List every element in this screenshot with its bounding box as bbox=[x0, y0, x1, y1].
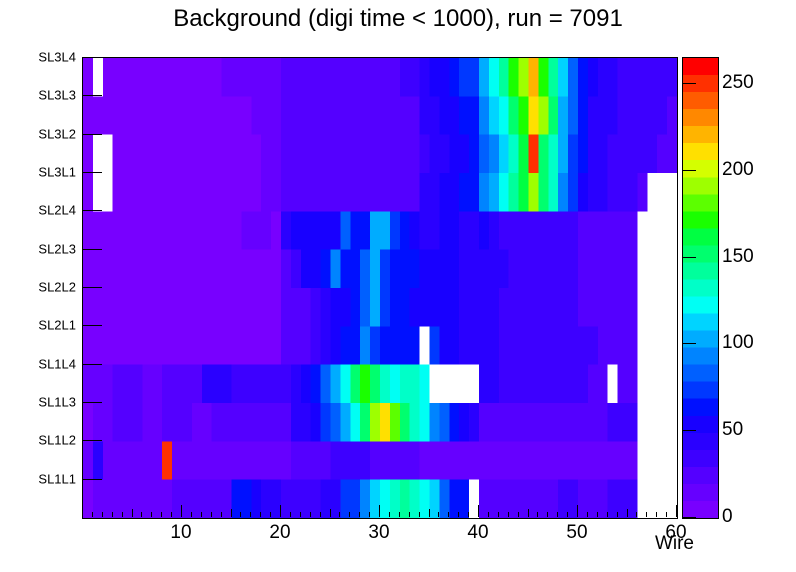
x-axis-tick bbox=[676, 505, 677, 517]
x-axis-tick bbox=[320, 512, 321, 517]
color-bar-tick-label: 150 bbox=[722, 246, 754, 268]
x-axis-tick bbox=[161, 512, 162, 517]
color-bar-tick-label: 250 bbox=[722, 72, 754, 94]
y-axis-tick-label: SL3L3 bbox=[4, 88, 76, 103]
color-bar-tick-label: 200 bbox=[722, 159, 754, 181]
x-axis-tick bbox=[171, 512, 172, 517]
x-axis-tick bbox=[627, 509, 628, 517]
x-axis-tick bbox=[537, 512, 538, 517]
x-axis-tick bbox=[201, 512, 202, 517]
x-axis-tick bbox=[597, 512, 598, 517]
x-axis-tick bbox=[369, 512, 370, 517]
x-axis-title: Wire bbox=[0, 533, 694, 555]
plot-frame[interactable] bbox=[82, 57, 678, 519]
y-axis-tick-label: SL1L1 bbox=[4, 471, 76, 486]
x-axis-tick bbox=[250, 512, 251, 517]
y-axis-tick bbox=[82, 479, 102, 480]
x-axis-tick bbox=[231, 509, 232, 517]
y-axis-tick-label: SL2L2 bbox=[4, 280, 76, 295]
x-axis-tick bbox=[211, 512, 212, 517]
x-axis-tick bbox=[349, 512, 350, 517]
heatmap-canvas[interactable] bbox=[83, 58, 677, 518]
y-axis-tick bbox=[82, 210, 102, 211]
x-axis-tick bbox=[399, 512, 400, 517]
x-axis-tick bbox=[567, 512, 568, 517]
x-axis-tick bbox=[607, 512, 608, 517]
y-axis-tick bbox=[82, 440, 102, 441]
x-axis-tick bbox=[191, 512, 192, 517]
x-axis-tick bbox=[547, 512, 548, 517]
y-axis-tick-label: SL1L3 bbox=[4, 395, 76, 410]
x-axis-tick bbox=[429, 509, 430, 517]
x-axis-tick bbox=[339, 512, 340, 517]
color-bar-tick bbox=[682, 257, 696, 258]
y-axis-tick bbox=[82, 325, 102, 326]
root-canvas: Background (digi time < 1000), run = 709… bbox=[0, 0, 796, 572]
y-axis-tick-label: SL3L2 bbox=[4, 126, 76, 141]
x-axis-tick bbox=[290, 512, 291, 517]
x-axis-tick bbox=[646, 512, 647, 517]
x-axis-tick bbox=[102, 512, 103, 517]
x-axis-tick bbox=[330, 509, 331, 517]
x-axis-tick bbox=[458, 512, 459, 517]
x-axis-tick bbox=[92, 512, 93, 517]
color-bar-tick-label: 0 bbox=[722, 506, 733, 528]
x-axis-tick bbox=[112, 512, 113, 517]
x-axis-tick bbox=[300, 512, 301, 517]
x-axis-tick bbox=[181, 505, 182, 517]
y-axis-tick bbox=[82, 249, 102, 250]
x-axis-tick bbox=[448, 512, 449, 517]
color-bar-tick bbox=[682, 83, 696, 84]
x-axis-tick bbox=[419, 512, 420, 517]
x-axis-tick bbox=[310, 512, 311, 517]
y-axis-tick bbox=[82, 172, 102, 173]
x-axis-tick bbox=[656, 512, 657, 517]
y-axis-tick bbox=[82, 57, 102, 58]
heatmap-cells[interactable] bbox=[83, 58, 677, 518]
x-axis-tick bbox=[389, 512, 390, 517]
x-axis-tick bbox=[122, 512, 123, 517]
color-bar-tick-label: 100 bbox=[722, 332, 754, 354]
y-axis-tick bbox=[82, 134, 102, 135]
y-axis-tick-label: SL3L4 bbox=[4, 50, 76, 65]
x-axis-tick bbox=[221, 512, 222, 517]
page-title: Background (digi time < 1000), run = 709… bbox=[0, 5, 796, 33]
x-axis-tick bbox=[518, 512, 519, 517]
x-axis-tick bbox=[528, 509, 529, 517]
color-bar-tick-label: 50 bbox=[722, 419, 743, 441]
color-bar[interactable] bbox=[682, 57, 719, 519]
y-axis-tick-label: SL1L2 bbox=[4, 433, 76, 448]
color-bar-gradient bbox=[683, 58, 718, 518]
x-axis-tick bbox=[260, 512, 261, 517]
x-axis-tick bbox=[478, 505, 479, 517]
x-axis-tick bbox=[666, 512, 667, 517]
x-axis-tick bbox=[359, 512, 360, 517]
y-axis-tick bbox=[82, 402, 102, 403]
color-bar-tick bbox=[682, 430, 696, 431]
x-axis-tick bbox=[557, 512, 558, 517]
x-axis-tick bbox=[617, 512, 618, 517]
x-axis-tick bbox=[141, 512, 142, 517]
y-axis-tick-label: SL2L4 bbox=[4, 203, 76, 218]
x-axis-tick bbox=[587, 512, 588, 517]
x-axis-tick bbox=[508, 512, 509, 517]
x-axis-tick bbox=[379, 505, 380, 517]
x-axis-tick bbox=[280, 505, 281, 517]
y-axis-labels: SL1L1SL1L2SL1L3SL1L4SL2L1SL2L2SL2L3SL2L4… bbox=[0, 0, 76, 572]
y-axis-tick bbox=[82, 287, 102, 288]
x-axis-tick bbox=[409, 512, 410, 517]
x-axis-tick bbox=[151, 512, 152, 517]
x-axis-tick bbox=[488, 512, 489, 517]
color-bar-tick bbox=[682, 343, 696, 344]
x-axis-tick bbox=[438, 512, 439, 517]
x-axis-tick bbox=[636, 512, 637, 517]
x-axis-tick bbox=[577, 505, 578, 517]
y-axis-tick bbox=[82, 95, 102, 96]
x-axis-tick bbox=[240, 512, 241, 517]
y-axis-tick bbox=[82, 364, 102, 365]
x-axis-tick bbox=[132, 509, 133, 517]
x-axis-tick bbox=[270, 512, 271, 517]
y-axis-tick-label: SL2L3 bbox=[4, 241, 76, 256]
color-bar-tick bbox=[682, 517, 696, 518]
x-axis-tick bbox=[498, 512, 499, 517]
x-axis-tick bbox=[468, 512, 469, 517]
y-axis-tick-label: SL3L1 bbox=[4, 165, 76, 180]
y-axis-tick-label: SL1L4 bbox=[4, 356, 76, 371]
y-axis-tick-label: SL2L1 bbox=[4, 318, 76, 333]
color-bar-tick bbox=[682, 170, 696, 171]
